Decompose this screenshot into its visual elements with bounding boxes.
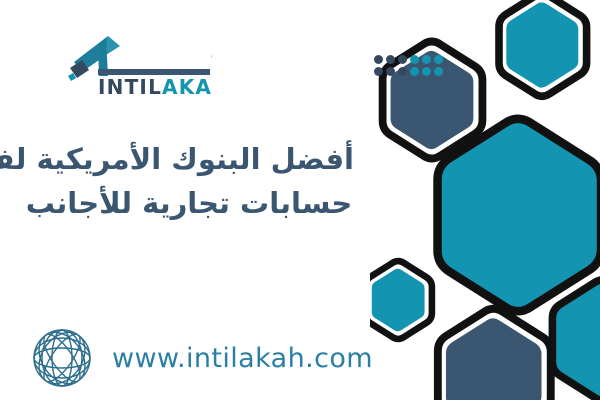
grid-dot (434, 67, 443, 76)
logo-latin-text: INTILAKAH (98, 75, 212, 99)
grid-dot (410, 67, 419, 76)
footer-website[interactable]: www.intilakah.com (26, 322, 373, 394)
promo-banner: إنطلاقة INTILAKAH أفضل البنوك الأمريكية … (0, 0, 600, 400)
grid-dot (422, 55, 431, 64)
grid-dot (434, 55, 443, 64)
grid-dot (398, 55, 407, 64)
page-title: أفضل البنوك الأمريكية لفتح حسابات تجارية… (24, 138, 354, 225)
grid-dot (386, 55, 395, 64)
grid-dot (398, 67, 407, 76)
hex-large-teal (442, 123, 597, 307)
brand-logo[interactable]: إنطلاقة INTILAKAH (62, 28, 212, 100)
grid-dot (374, 67, 383, 76)
hex-top-right-teal (503, 0, 583, 92)
hex-bottom-right-teal (556, 284, 600, 397)
grid-dot (422, 67, 431, 76)
logo-arabic-text: إنطلاقة (210, 37, 212, 66)
grid-dot (410, 55, 419, 64)
headline-line-1: أفضل البنوك الأمريكية لفتح (24, 138, 354, 182)
website-url-text[interactable]: www.intilakah.com (112, 343, 373, 374)
grid-dot (386, 67, 395, 76)
grid-dot (374, 55, 383, 64)
hex-small-teal (370, 264, 429, 335)
headline-line-2: حسابات تجارية للأجانب (24, 182, 354, 226)
dot-grid-decoration (374, 55, 444, 77)
globe-wireframe-icon (26, 322, 98, 394)
hex-bottom-navy (442, 313, 547, 400)
